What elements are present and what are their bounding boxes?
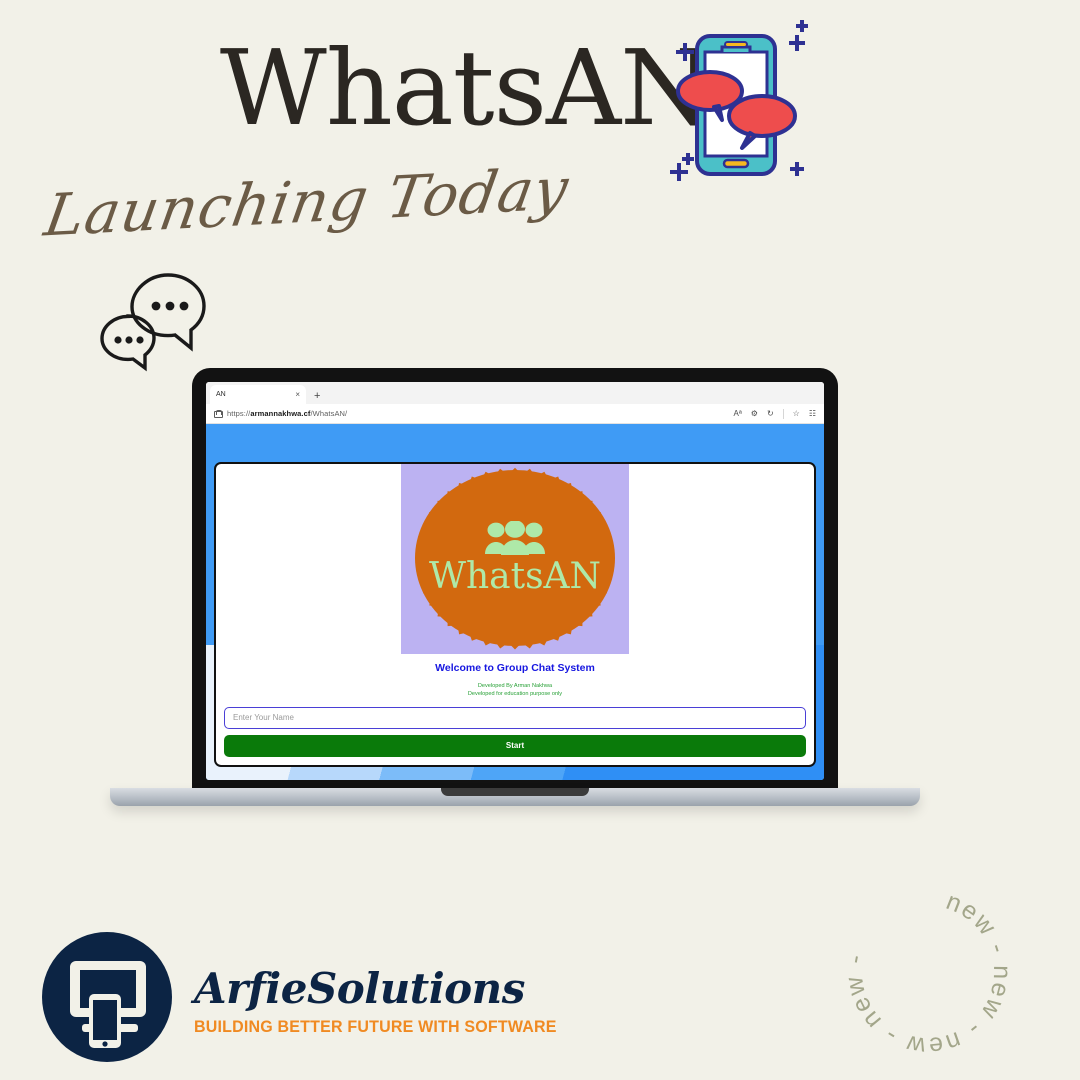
url-text: https://armannakhwa.cf/WhatsAN/ (227, 409, 347, 418)
credits-block: Developed By Arman Nakhwa Developed for … (216, 682, 814, 699)
phone-chat-illustration (652, 14, 832, 194)
lock-icon (214, 410, 221, 418)
laptop-mockup: AN × + https://armannakhwa.cf/WhatsAN/ A… (110, 368, 920, 818)
new-tab-icon[interactable]: + (314, 391, 320, 404)
close-icon[interactable]: × (295, 391, 300, 399)
app-card: WhatsAN Welcome to Group Chat System Dev… (214, 462, 816, 767)
brand-tagline: BUILDING BETTER FUTURE WITH SOFTWARE (194, 1018, 557, 1037)
badge-core: WhatsAN (415, 470, 615, 646)
browser-address-bar[interactable]: https://armannakhwa.cf/WhatsAN/ Aª ⚙ ↻ ☆… (206, 404, 824, 424)
page-viewport: WhatsAN Welcome to Group Chat System Dev… (206, 424, 824, 780)
browser-toolbar-actions: Aª ⚙ ↻ ☆ ☷ (733, 409, 816, 419)
brand-mark (42, 932, 172, 1062)
subtitle-script: Launching Today (40, 154, 574, 249)
new-badge-text: new - new - new - new - (840, 887, 1017, 1060)
welcome-heading: Welcome to Group Chat System (216, 662, 814, 674)
brand-name: ArfieSolutions (194, 968, 568, 1010)
poster-canvas: WhatsAN Launching Today (0, 0, 1080, 1080)
logo-block: WhatsAN (401, 464, 629, 654)
whatsan-badge-logo: WhatsAN (415, 470, 615, 646)
new-circular-badge: new - new - new - new - (828, 872, 1028, 1072)
toolbar-divider (783, 409, 784, 419)
laptop-screen: AN × + https://armannakhwa.cf/WhatsAN/ A… (206, 382, 824, 780)
read-aloud-icon[interactable]: Aª (733, 410, 741, 418)
name-input[interactable] (224, 707, 806, 729)
immersive-reader-icon[interactable]: ⚙ (751, 410, 758, 418)
brand-text: ArfieSolutions BUILDING BETTER FUTURE WI… (194, 958, 568, 1037)
browser-tabstrip: AN × + (206, 382, 824, 404)
laptop-base (110, 788, 920, 806)
brand-lockup: ArfieSolutions BUILDING BETTER FUTURE WI… (42, 932, 568, 1062)
laptop-lid: AN × + https://armannakhwa.cf/WhatsAN/ A… (192, 368, 838, 800)
tab-title: AN (216, 391, 295, 398)
logo-wordmark: WhatsAN (429, 559, 601, 595)
browser-window: AN × + https://armannakhwa.cf/WhatsAN/ A… (206, 382, 824, 780)
credit-line: Developed By Arman Nakhwa (216, 682, 814, 690)
add-favorite-icon[interactable]: ☆ (793, 410, 800, 418)
group-people-icon (485, 521, 545, 555)
svg-text:new - new - new - new -: new - new - new - new - (840, 887, 1017, 1060)
credit-line: Developed for education purpose only (216, 690, 814, 698)
monitor-phone-icon (42, 932, 172, 1062)
browser-tab[interactable]: AN × (210, 385, 306, 404)
start-button[interactable]: Start (224, 735, 806, 757)
collections-icon[interactable]: ☷ (809, 410, 816, 418)
refresh-icon[interactable]: ↻ (767, 410, 774, 418)
